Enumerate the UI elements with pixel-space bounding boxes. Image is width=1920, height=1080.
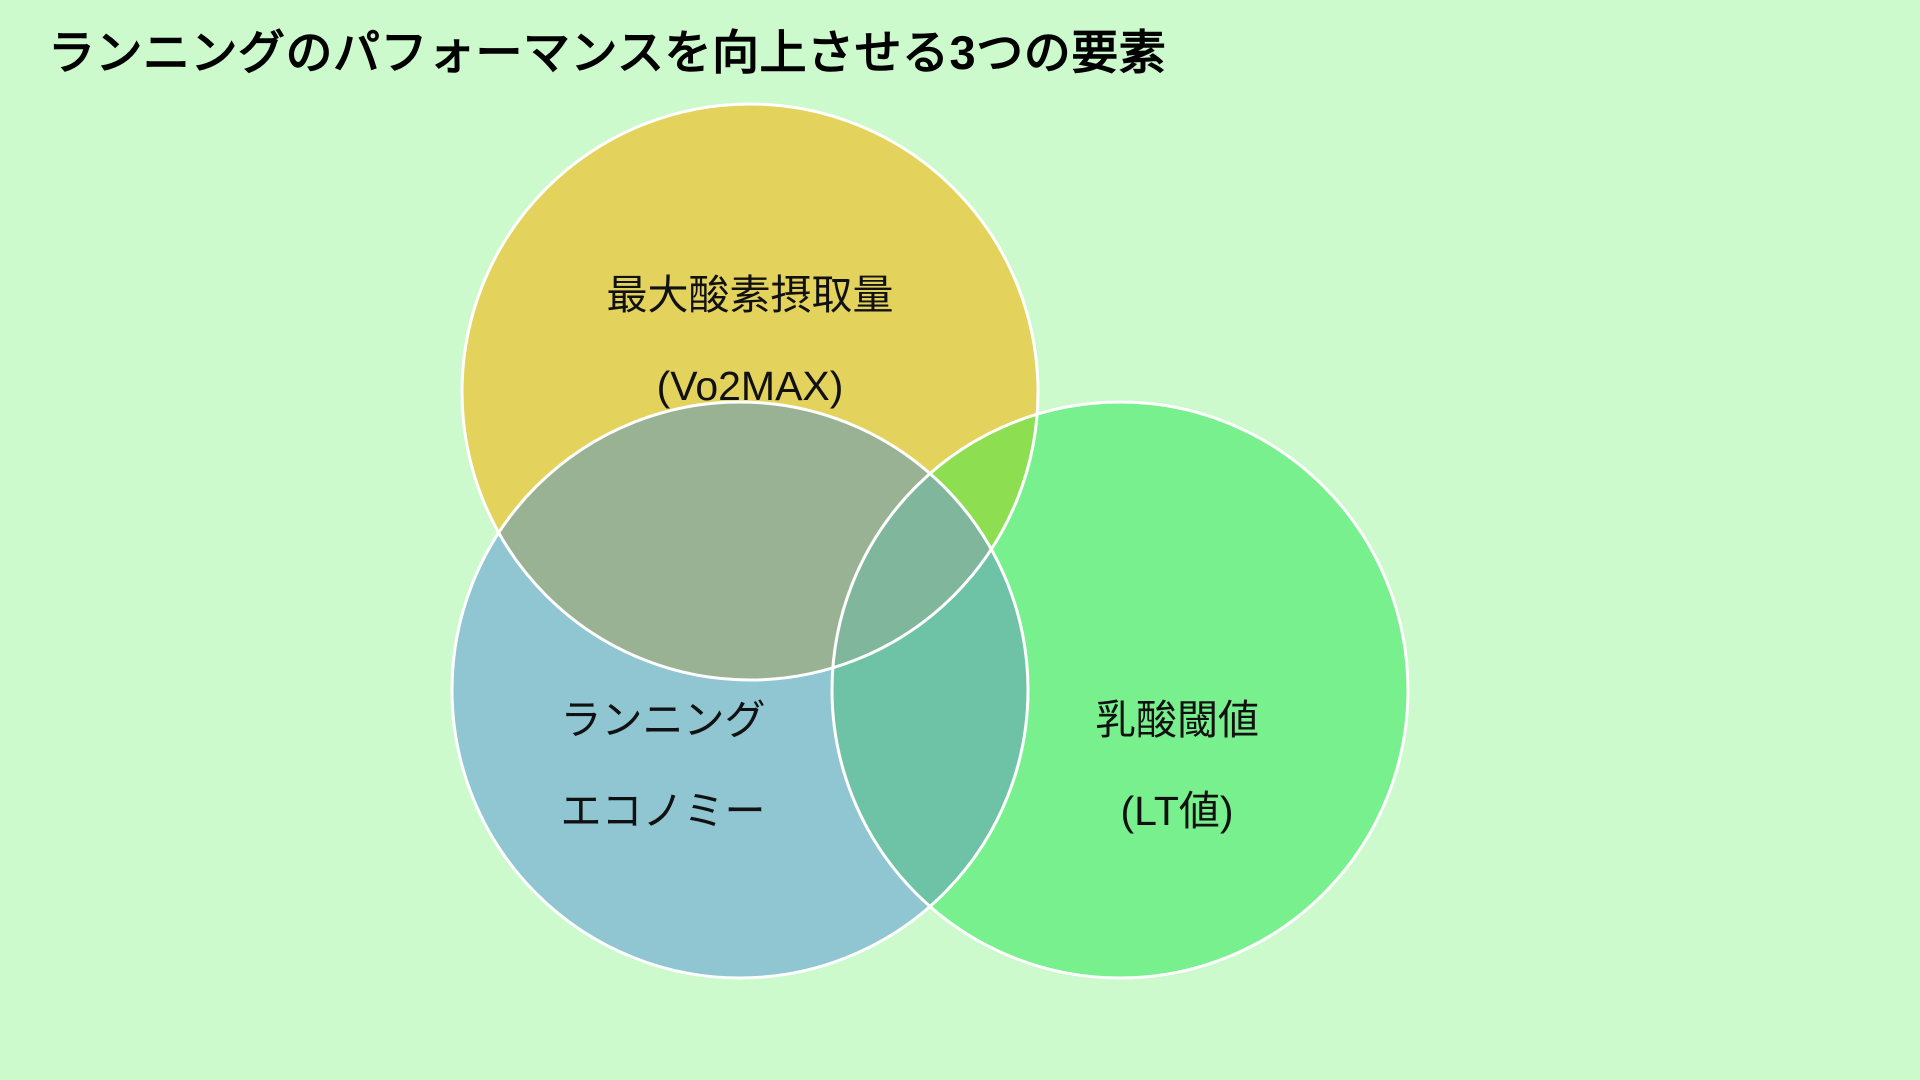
venn-diagram: 最大酸素摂取量 (Vo2MAX) ランニング エコノミー 乳酸閾値 (LT値) [0,0,1920,1080]
slide-canvas: ランニングのパフォーマンスを向上させる3つの要素 [0,0,1920,1080]
venn-svg [0,0,1920,1080]
